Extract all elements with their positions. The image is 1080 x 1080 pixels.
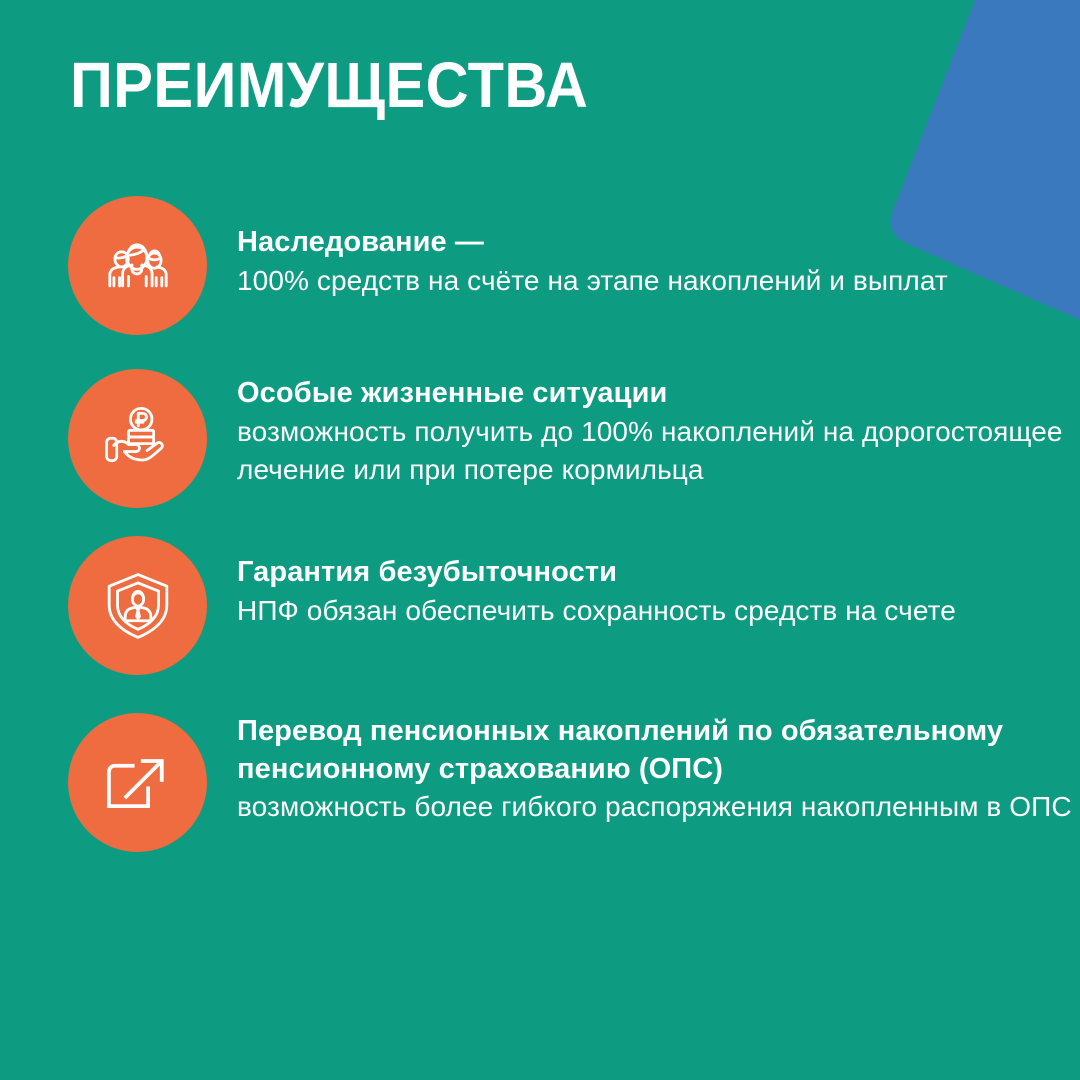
benefit-heading: Перевод пенсионных накоплений по обязате… [237, 713, 1080, 788]
slide-root: ПРЕИМУЩЕСТВА [0, 0, 1080, 1080]
transfer-out-arrow-icon [100, 745, 176, 821]
benefits-list: Наследование — 100% средств на счёте на … [0, 196, 1080, 852]
benefit-text-block: Гарантия безубыточности НПФ обязан обесп… [207, 536, 1080, 630]
benefit-text-block: Наследование — 100% средств на счёте на … [207, 196, 1080, 300]
family-group-icon [97, 225, 179, 307]
benefit-icon-badge [68, 369, 207, 508]
benefit-text-block: Перевод пенсионных накоплений по обязате… [207, 713, 1080, 827]
page-title: ПРЕИМУЩЕСТВА [70, 52, 588, 119]
benefit-item-special-situations: Особые жизненные ситуации возможность по… [0, 369, 1080, 508]
benefit-icon-badge [68, 196, 207, 335]
benefit-text-block: Особые жизненные ситуации возможность по… [207, 369, 1080, 490]
benefit-heading: Наследование — [237, 224, 1080, 262]
benefit-body: возможность более гибкого распоряжения н… [237, 788, 1080, 827]
benefit-item-inheritance: Наследование — 100% средств на счёте на … [0, 196, 1080, 335]
benefit-body: 100% средств на счёте на этапе накоплени… [237, 262, 1080, 301]
benefit-body: возможность получить до 100% накоплений … [237, 413, 1080, 490]
hand-with-ruble-coins-icon [97, 398, 179, 480]
benefit-heading: Особые жизненные ситуации [237, 375, 1080, 413]
benefit-item-guarantee: Гарантия безубыточности НПФ обязан обесп… [0, 536, 1080, 675]
benefit-item-transfer: Перевод пенсионных накоплений по обязате… [0, 713, 1080, 852]
benefit-icon-badge [68, 713, 207, 852]
shield-with-person-icon [97, 565, 179, 647]
benefit-body: НПФ обязан обеспечить сохранность средст… [237, 592, 1080, 631]
benefit-heading: Гарантия безубыточности [237, 554, 1080, 592]
benefit-icon-badge [68, 536, 207, 675]
